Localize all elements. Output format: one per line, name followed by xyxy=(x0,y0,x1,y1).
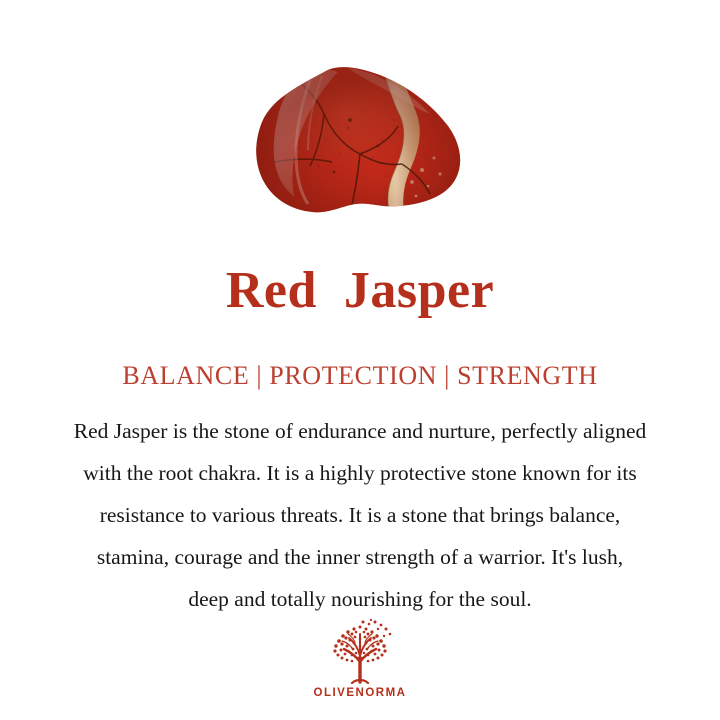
keyword-line: BALANCE | PROTECTION | STRENGTH xyxy=(0,360,720,392)
brand-logo: OLIVENORMA xyxy=(0,618,720,699)
red-jasper-info-card: Red Jasper BALANCE | PROTECTION | STRENG… xyxy=(0,0,720,720)
stone-image xyxy=(0,46,720,228)
description-line-3: resistance to various threats. It is a s… xyxy=(8,494,712,536)
description-line-4: stamina, courage and the inner strength … xyxy=(8,536,712,578)
description-paragraph: Red Jasper is the stone of endurance and… xyxy=(8,410,712,620)
red-jasper-stone-graphic xyxy=(252,54,468,220)
brand-name: OLIVENORMA xyxy=(314,687,407,699)
description-line-2: with the root chakra. It is a highly pro… xyxy=(8,452,712,494)
description-line-5: deep and totally nourishing for the soul… xyxy=(8,578,712,620)
page-title: Red Jasper xyxy=(0,262,720,320)
tree-icon xyxy=(322,618,398,684)
description-line-1: Red Jasper is the stone of endurance and… xyxy=(8,410,712,452)
